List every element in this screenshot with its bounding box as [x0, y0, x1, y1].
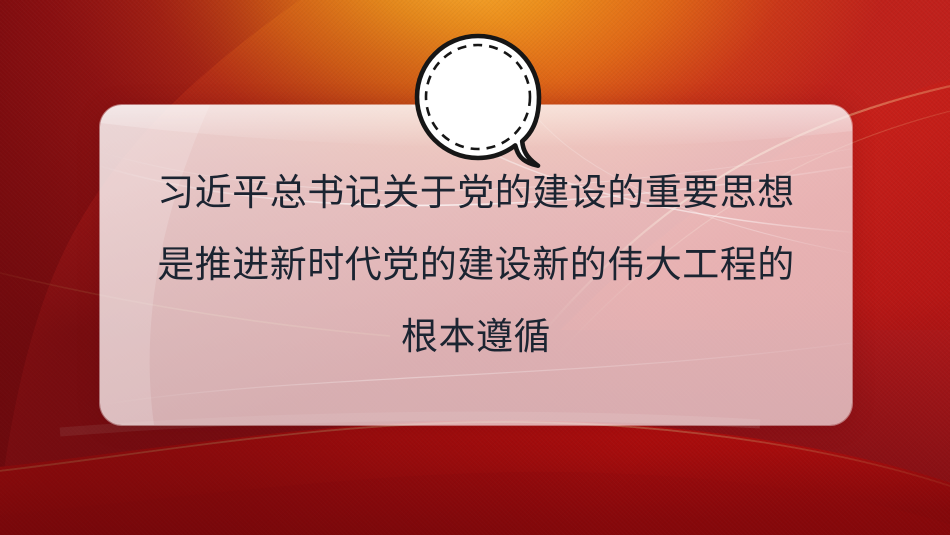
title-line-3: 根本遵循 — [100, 301, 852, 373]
title-line-2: 是推进新时代党的建设新的伟大工程的 — [100, 229, 852, 301]
page-title: 习近平总书记关于党的建设的重要思想 是推进新时代党的建设新的伟大工程的 根本遵循 — [100, 157, 852, 373]
speech-bubble-icon — [412, 31, 544, 171]
slide-canvas: 习近平总书记关于党的建设的重要思想 是推进新时代党的建设新的伟大工程的 根本遵循 — [0, 0, 950, 535]
